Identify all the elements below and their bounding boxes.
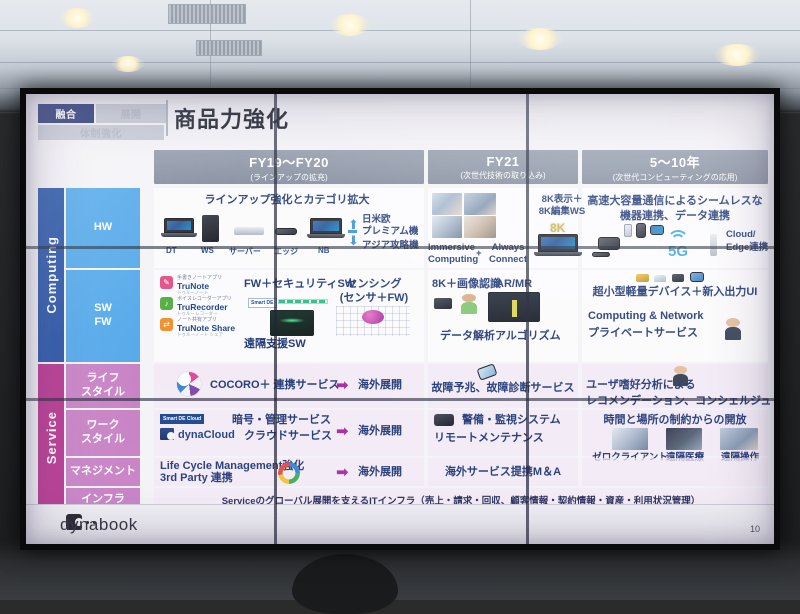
- trunote-share-category: ノート共有アプリ: [177, 316, 217, 323]
- hw-8k-label: 8K表示＋ 8K編集WS: [532, 194, 592, 218]
- sensor-cloud-icon: [362, 310, 384, 324]
- overseas-arrow-icon: ➡: [336, 378, 349, 393]
- column-subtitle: (次世代技術の取り込み): [460, 170, 545, 181]
- security-camera-icon: [434, 414, 454, 426]
- cell-management-future: [582, 458, 768, 486]
- trurecorder-category: ボイスレコーダーアプリ: [177, 295, 232, 302]
- row-label-management: マネジメント: [66, 458, 140, 486]
- edge-device-icon: [275, 228, 297, 235]
- ceiling-light: [60, 8, 94, 28]
- user-preference-recommendation-label: ユーザ嗜好分析による レコメンデーション、コンシェルジュ: [586, 378, 771, 410]
- lifecycle-ring-icon: [278, 462, 300, 484]
- armr-screen: [488, 292, 540, 322]
- tablet-icon: [636, 223, 646, 238]
- security-monitoring-label: 警備・監視システム: [462, 414, 561, 428]
- trunote-share-app-icon: ⇄: [160, 318, 173, 331]
- hw-future-heading: 高速大容量通信によるシームレスな 機器連携、データ連携: [584, 194, 766, 224]
- title-divider: [166, 100, 168, 136]
- time-place-freedom-heading: 時間と場所の制約からの開放: [584, 414, 766, 428]
- person-avatar-icon: [462, 294, 476, 314]
- presentation-screen: 融合 展開 体制強化 商品力強化 FY19〜FY20 (ラインアップの拡充) F…: [26, 94, 774, 544]
- column-title: FY19〜FY20: [249, 152, 329, 171]
- wall-lower: [0, 542, 800, 600]
- photo-zero-client: [612, 428, 648, 450]
- 8k-image-recognition-label: 8K＋画像認識: [432, 278, 501, 292]
- row-label-hw: HW: [66, 188, 140, 268]
- camera-icon: [434, 298, 452, 309]
- bezel-seam-vertical: [274, 94, 277, 544]
- slide-content: 融合 展開 体制強化 商品力強化 FY19〜FY20 (ラインアップの拡充) F…: [26, 94, 774, 544]
- lifestyle-overseas-label: 海外展開: [358, 379, 402, 393]
- tab-tenkai[interactable]: 展開: [96, 104, 166, 123]
- row-label-lifestyle: ライフ スタイル: [66, 364, 140, 408]
- micro-device-icon: [672, 274, 684, 282]
- hw-plus-sign: +: [476, 248, 482, 260]
- bezel-seam-horizontal: [26, 246, 774, 249]
- page-title: 商品力強化: [174, 102, 289, 134]
- data-analysis-algorithm-label: データ解析アルゴリズム: [440, 330, 561, 344]
- smart-de-cloud-chip: Smart DE Cloud: [160, 414, 204, 424]
- dynacloud-logo-icon: [160, 428, 174, 440]
- hw-branch-premium: 日米欧 プレミアム機: [362, 214, 418, 238]
- tab-taisei-kyoka[interactable]: 体制強化: [38, 125, 164, 140]
- column-header-5-10-years: 5〜10年 (次世代コンピューティングの応用): [582, 150, 768, 184]
- ceiling-vent-icon: [168, 4, 246, 24]
- hw-fy19-heading: ラインアップ強化とカテゴリ拡大: [162, 194, 412, 208]
- hw-cloud-edge-label: Cloud/ Edge連携: [726, 228, 768, 255]
- video-wall-display: 融合 展開 体制強化 商品力強化 FY19〜FY20 (ラインアップの拡充) F…: [20, 88, 780, 550]
- management-overseas-label: 海外展開: [358, 466, 402, 480]
- workstyle-overseas-label: 海外展開: [358, 425, 402, 439]
- photo-immersive-2: [464, 193, 496, 215]
- slide-footer: [26, 504, 774, 544]
- trunote-share-romaji: トゥルーノート シェア: [177, 332, 223, 338]
- photo-remote-operation: [720, 428, 758, 450]
- tab-yugo[interactable]: 融合: [38, 104, 94, 123]
- rail-service: Service: [38, 364, 64, 512]
- laptop-nb-icon: [310, 218, 342, 241]
- vehicle-icon: [636, 274, 649, 282]
- trunote-category: 手書きノートアプリ: [177, 274, 222, 281]
- ceiling-seam: [0, 30, 800, 31]
- dynacloud-brand: dynaCloud: [178, 429, 235, 441]
- micro-device-ui-label: 超小型軽量デバイス＋新入出力UI: [584, 286, 766, 300]
- cocoro-plus-icon: [176, 371, 202, 397]
- computing-network-private-service-label: Computing & Network プライベートサービス: [588, 308, 704, 341]
- sensing-label: センシング (センサ＋FW): [332, 278, 416, 306]
- ceiling-light: [330, 14, 370, 36]
- photo-telemedicine: [666, 428, 702, 450]
- photo-immersive-4: [464, 216, 496, 238]
- bezel-seam-vertical: [526, 94, 529, 544]
- page-number: 10: [750, 524, 760, 534]
- laptop-dt-icon: [164, 218, 194, 240]
- display-device-icon: [690, 272, 704, 282]
- column-subtitle: (ラインアップの拡充): [250, 172, 327, 183]
- column-header-fy19-fy20: FY19〜FY20 (ラインアップの拡充): [154, 150, 424, 184]
- keyboard-icon: [592, 252, 610, 257]
- row-label-workstyle: ワーク スタイル: [66, 410, 140, 456]
- antenna-icon: [710, 234, 717, 256]
- encryption-management-service-label: 暗号・管理サービス: [232, 414, 331, 428]
- badge-8k: 8K: [550, 221, 565, 235]
- brand-name: dynabook: [60, 515, 138, 535]
- ceiling-light: [112, 56, 144, 72]
- slide-section-tabs: 融合 展開 体制強化: [38, 104, 166, 144]
- column-title: 5〜10年: [650, 152, 700, 171]
- failure-diagnosis-label: 故障予兆、故障診断サービス: [430, 382, 576, 396]
- ceiling-seam: [470, 0, 471, 96]
- person-avatar-icon: [726, 318, 740, 340]
- rail-computing: Computing: [38, 188, 64, 362]
- wearable-icon: [654, 275, 666, 282]
- device-display-icon: [650, 225, 664, 235]
- row-label-sw-fw: SW FW: [66, 270, 140, 362]
- server-icon: [234, 227, 264, 235]
- column-title: FY21: [486, 154, 519, 169]
- ceiling-light: [518, 28, 562, 50]
- overseas-arrow-icon: ➡: [336, 424, 349, 439]
- third-party-label: 3rd Party 連携: [160, 472, 233, 486]
- column-subtitle: (次世代コンピューティングの応用): [613, 172, 738, 183]
- trurecorder-app-icon: ♪: [160, 297, 173, 310]
- column-header-fy21: FY21 (次世代技術の取り込み): [428, 150, 578, 184]
- photo-immersive-3: [432, 216, 462, 238]
- bezel-seam-horizontal: [26, 398, 774, 401]
- overseas-arrow-icon: ➡: [336, 465, 349, 480]
- photo-immersive-1: [432, 193, 462, 215]
- progress-bar-graphic: [278, 299, 328, 304]
- cloud-service-label: クラウドサービス: [244, 430, 332, 444]
- rail-service-label: Service: [44, 411, 59, 464]
- smart-de-chip: Smart DE: [248, 298, 277, 308]
- trunote-app-icon: ✎: [160, 276, 173, 289]
- ceiling-vent-icon: [196, 40, 262, 56]
- workstation-ws-icon: [202, 215, 219, 242]
- ceiling-light: [714, 44, 760, 66]
- smartphone-icon: [624, 224, 632, 237]
- overseas-ma-label: 海外サービス提携M＆A: [430, 466, 576, 480]
